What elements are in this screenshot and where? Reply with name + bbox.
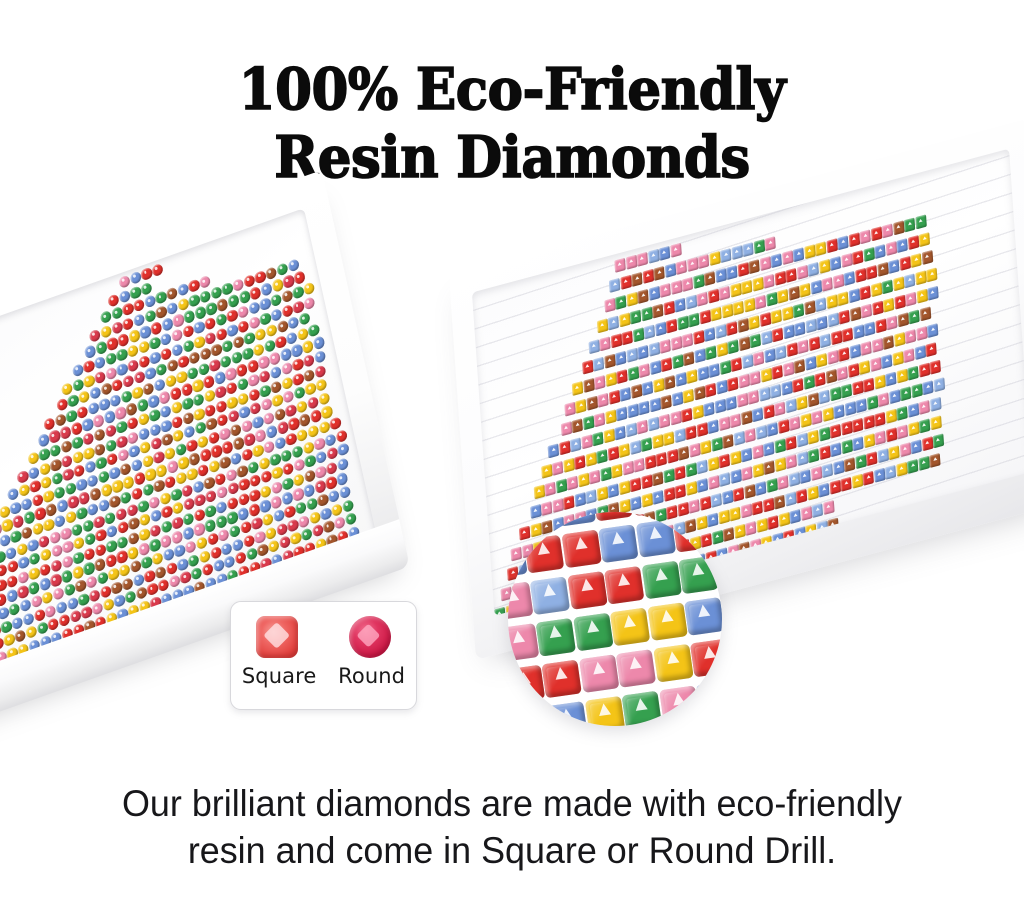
round-drill [77, 592, 90, 607]
round-drill [94, 370, 107, 385]
square-drill [697, 292, 709, 307]
round-drill [260, 282, 273, 297]
square-drill [752, 500, 764, 515]
square-drill [927, 323, 939, 338]
square-drill [908, 235, 920, 250]
square-drill [661, 394, 673, 409]
magnified-square-drill [641, 561, 681, 600]
square-drill [816, 315, 828, 330]
square-drill [597, 393, 609, 408]
square-drill [653, 378, 665, 393]
square-drill [760, 368, 772, 383]
square-drill [615, 425, 627, 440]
square-drill [754, 239, 766, 254]
square-drill [800, 469, 812, 484]
square-drill [863, 415, 875, 430]
square-drill [899, 256, 911, 271]
round-drill [307, 323, 320, 338]
square-drill [874, 412, 886, 427]
square-drill [823, 500, 835, 515]
square-drill [763, 498, 775, 513]
legend-label-square: Square [242, 664, 317, 688]
square-drill [786, 342, 798, 357]
square-drill [848, 232, 860, 247]
round-drill [237, 319, 250, 334]
round-drill [133, 313, 146, 328]
square-drill [797, 395, 809, 410]
round-drill [259, 484, 272, 499]
square-drill [594, 375, 606, 390]
square-drill [872, 338, 884, 353]
round-drill [88, 588, 101, 603]
square-drill [796, 489, 808, 504]
round-drill [86, 473, 99, 488]
round-drill [130, 486, 143, 501]
square-drill [694, 348, 706, 363]
magnified-square-drill [592, 512, 632, 521]
square-drill [830, 256, 842, 271]
square-drill [849, 344, 861, 359]
square-drill [641, 493, 653, 508]
round-drill [293, 270, 306, 285]
square-drill [741, 503, 753, 518]
square-drill [763, 274, 775, 289]
square-drill [871, 226, 883, 241]
round-drill [60, 381, 73, 396]
square-drill [688, 313, 700, 328]
square-drill [881, 354, 893, 369]
round-drill [270, 379, 283, 394]
round-drill [249, 401, 262, 416]
square-drill [759, 387, 771, 402]
round-drill [20, 497, 33, 512]
square-drill [927, 286, 939, 301]
round-drill [186, 366, 199, 381]
square-drill [678, 446, 690, 461]
square-drill [703, 402, 715, 417]
square-drill [838, 291, 850, 306]
square-drill [594, 412, 606, 427]
round-drill [229, 423, 242, 438]
square-drill [708, 475, 720, 490]
square-drill [650, 360, 662, 375]
square-drill [733, 431, 745, 446]
round-drill [337, 442, 350, 457]
square-drill [583, 378, 595, 393]
square-drill [863, 471, 875, 486]
square-drill [663, 431, 675, 446]
round-drill [204, 403, 217, 418]
square-drill [885, 371, 897, 386]
magnified-square-drill [508, 582, 533, 621]
square-drill [670, 243, 682, 258]
square-drill [722, 304, 734, 319]
square-drill [893, 220, 905, 235]
square-drill [666, 318, 678, 333]
round-drill [336, 457, 349, 472]
square-drill [614, 258, 626, 273]
square-drill [604, 298, 616, 313]
round-drill [84, 344, 97, 359]
round-drill [60, 454, 73, 469]
footer-caption: Our brilliant diamonds are made with eco… [15, 780, 1008, 874]
square-drill [756, 518, 768, 533]
square-drill [726, 321, 738, 336]
square-drill [930, 397, 942, 412]
square-drill [885, 409, 897, 424]
square-drill [919, 363, 931, 378]
square-drill [799, 283, 811, 298]
square-drill [789, 416, 801, 431]
round-drill [153, 377, 166, 392]
square-drill [683, 351, 695, 366]
square-drill [686, 369, 698, 384]
square-drill [671, 336, 683, 351]
round-drill [197, 463, 210, 478]
square-drill [626, 348, 638, 363]
square-drill [790, 509, 802, 524]
square-drill [914, 345, 926, 360]
square-drill [775, 457, 787, 472]
square-drill [660, 283, 672, 298]
round-drill [302, 353, 315, 368]
square-drill [698, 254, 710, 269]
round-drill [182, 512, 195, 527]
square-drill [667, 449, 679, 464]
round-drill [187, 553, 200, 568]
round-drill [93, 442, 106, 457]
square-drill [765, 236, 777, 251]
square-drill [675, 484, 687, 499]
square-drill [779, 512, 791, 527]
square-drill [803, 375, 815, 390]
square-drill [705, 383, 717, 398]
square-drill [808, 430, 820, 445]
magnified-square-drill [647, 602, 687, 641]
square-drill [733, 487, 745, 502]
square-drill [671, 280, 683, 295]
square-drill [686, 425, 698, 440]
square-drill [882, 223, 894, 238]
square-drill [644, 324, 656, 339]
square-drill [572, 418, 584, 433]
square-drill [663, 487, 675, 502]
square-drill [922, 380, 934, 395]
square-drill [630, 309, 642, 324]
square-drill [685, 462, 697, 477]
square-drill [637, 419, 649, 434]
round-drill [122, 475, 135, 490]
square-drill [763, 404, 775, 419]
square-drill [899, 442, 911, 457]
square-drill [864, 321, 876, 336]
square-drill [567, 475, 579, 490]
square-drill [616, 369, 628, 384]
square-drill [626, 255, 638, 270]
square-drill [772, 365, 784, 380]
square-drill [745, 428, 757, 443]
square-drill [756, 425, 768, 440]
square-drill [655, 321, 667, 336]
square-drill [663, 301, 675, 316]
round-drill [105, 524, 118, 539]
round-drill [292, 473, 305, 488]
square-drill [700, 496, 712, 511]
round-drill [219, 354, 232, 369]
square-drill [933, 377, 945, 392]
square-drill [597, 449, 609, 464]
legend-label-round: Round [338, 664, 405, 688]
square-drill [872, 301, 884, 316]
square-drill [608, 446, 620, 461]
round-drill [140, 281, 153, 296]
square-drill [649, 342, 661, 357]
square-drill [850, 307, 862, 322]
round-drill [320, 405, 333, 420]
round-drill [204, 316, 217, 331]
square-drill [597, 318, 609, 333]
square-drill [605, 409, 617, 424]
square-drill [918, 456, 930, 471]
square-drill [677, 315, 689, 330]
round-drill [324, 432, 337, 447]
square-drill [619, 443, 631, 458]
square-drill [643, 269, 655, 284]
square-drill [886, 315, 898, 330]
round-drill [267, 539, 280, 554]
square-drill [807, 486, 819, 501]
square-drill [911, 383, 923, 398]
square-drill [838, 310, 850, 325]
round-drill [159, 418, 172, 433]
square-drill [715, 399, 727, 414]
square-drill [561, 421, 573, 436]
square-drill [686, 481, 698, 496]
square-drill [826, 294, 838, 309]
round-drill [88, 328, 101, 343]
round-drill [27, 581, 40, 596]
square-drill [800, 413, 812, 428]
round-drill [118, 563, 131, 578]
square-drill [908, 403, 920, 418]
square-drill [697, 366, 709, 381]
square-drill [744, 298, 756, 313]
round-drill [276, 262, 289, 277]
headline-line-1: 100% Eco-Friendly [239, 56, 786, 123]
square-drill [755, 481, 767, 496]
square-drill [819, 427, 831, 442]
square-drill [905, 329, 917, 344]
round-drill [115, 507, 128, 522]
round-drill [20, 526, 33, 541]
round-drill [298, 413, 311, 428]
square-drill [641, 437, 653, 452]
square-drill [852, 380, 864, 395]
round-drill [192, 393, 205, 408]
round-drill [317, 391, 330, 406]
magnified-square-drill [530, 576, 570, 615]
square-drill [852, 250, 864, 265]
square-drill [860, 285, 872, 300]
square-drill [883, 298, 895, 313]
magnified-square-drill [702, 722, 722, 726]
square-drill [556, 478, 568, 493]
magnified-square-drill [508, 623, 539, 662]
square-drill [719, 453, 731, 468]
square-drill [661, 357, 673, 372]
round-drill [6, 574, 19, 589]
round-drill [119, 462, 132, 477]
square-drill [741, 280, 753, 295]
square-drill [720, 248, 732, 263]
round-drill [83, 547, 96, 562]
square-drill [719, 286, 731, 301]
square-drill [771, 253, 783, 268]
square-drill [723, 527, 735, 542]
square-drill [545, 481, 557, 496]
square-drill [626, 422, 638, 437]
magnified-square-drill [629, 512, 669, 516]
square-drill [731, 357, 743, 372]
square-drill [572, 381, 584, 396]
round-drill [163, 475, 176, 490]
square-drill [570, 437, 582, 452]
magnified-square-drill [690, 639, 722, 678]
round-drill [230, 451, 243, 466]
round-drill [85, 575, 98, 590]
square-drill [855, 268, 867, 283]
magnifier-inset [508, 512, 722, 726]
square-drill [648, 249, 660, 264]
round-drill [154, 565, 167, 580]
round-drill [237, 391, 250, 406]
square-drill [897, 368, 909, 383]
square-drill [886, 427, 898, 442]
magnified-square-drill [573, 613, 613, 652]
caption-line-1: Our brilliant diamonds are made with eco… [122, 783, 902, 824]
square-drill [919, 418, 931, 433]
square-drill [752, 407, 764, 422]
square-drill [933, 433, 945, 448]
square-drill [603, 428, 615, 443]
square-drill [812, 503, 824, 518]
square-drill [730, 450, 742, 465]
square-drill [920, 306, 932, 321]
round-drill [338, 485, 351, 500]
square-drill [788, 472, 800, 487]
square-drill [715, 324, 727, 339]
square-drill [815, 241, 827, 256]
magnified-square-drill [622, 691, 662, 726]
round-drill [137, 426, 150, 441]
magnified-square-drill [541, 660, 581, 699]
square-drill [730, 283, 742, 298]
round-drill [149, 523, 162, 538]
round-drill [183, 425, 196, 440]
round-drill [171, 328, 184, 343]
round-drill [193, 335, 206, 350]
square-drill [574, 492, 586, 507]
square-drill [888, 259, 900, 274]
square-drill [749, 371, 761, 386]
round-drill [130, 458, 143, 473]
round-drill [181, 483, 194, 498]
round-drill [91, 601, 104, 616]
square-drill [915, 214, 927, 229]
round-drill [73, 464, 86, 479]
square-drill [770, 384, 782, 399]
magnified-square-drill [547, 701, 587, 726]
magnified-square-drill [604, 566, 644, 605]
square-drill [575, 399, 587, 414]
square-drill [841, 253, 853, 268]
square-drill [742, 354, 754, 369]
square-drill [808, 448, 820, 463]
square-drill [749, 315, 761, 330]
square-drill [849, 288, 861, 303]
square-drill [883, 335, 895, 350]
magnified-drill-rows [508, 512, 722, 726]
square-drill [559, 440, 571, 455]
magnified-square-drill [616, 649, 656, 688]
square-drill [745, 521, 757, 536]
square-drill [804, 244, 816, 259]
square-drill [631, 384, 643, 399]
round-drill [39, 562, 52, 577]
magnified-square-drill [561, 530, 601, 569]
square-drill [744, 484, 756, 499]
square-drill [903, 348, 915, 363]
square-drill [654, 266, 666, 281]
square-drill [848, 363, 860, 378]
round-drill [227, 294, 240, 309]
round-drill [40, 475, 53, 490]
drill-type-legend[interactable]: Square Round [230, 601, 417, 710]
square-drill [664, 375, 676, 390]
square-drill [783, 324, 795, 339]
square-drill [763, 442, 775, 457]
round-drill [201, 562, 214, 577]
square-drill [741, 466, 753, 481]
caption-line-2: resin and come in Square or Round Drill. [15, 827, 1008, 874]
square-drill [738, 318, 750, 333]
square-drill [926, 342, 938, 357]
round-drill [53, 485, 66, 500]
round-drill [103, 510, 116, 525]
round-drill [285, 331, 298, 346]
round-drill [303, 281, 316, 296]
round-drill [265, 424, 278, 439]
square-drill [863, 377, 875, 392]
square-drill [919, 400, 931, 415]
round-drill [4, 546, 17, 561]
square-drill [785, 492, 797, 507]
square-drill [548, 443, 560, 458]
square-drill [652, 434, 664, 449]
square-drill [827, 350, 839, 365]
square-drill [826, 238, 838, 253]
square-drill [820, 333, 832, 348]
round-drill [89, 487, 102, 502]
square-drill [693, 274, 705, 289]
square-drill [827, 313, 839, 328]
square-drill [771, 309, 783, 324]
square-drill [830, 386, 842, 401]
square-drill [908, 309, 920, 324]
square-drill [875, 430, 887, 445]
round-drill [43, 417, 56, 432]
round-drill [19, 598, 32, 613]
